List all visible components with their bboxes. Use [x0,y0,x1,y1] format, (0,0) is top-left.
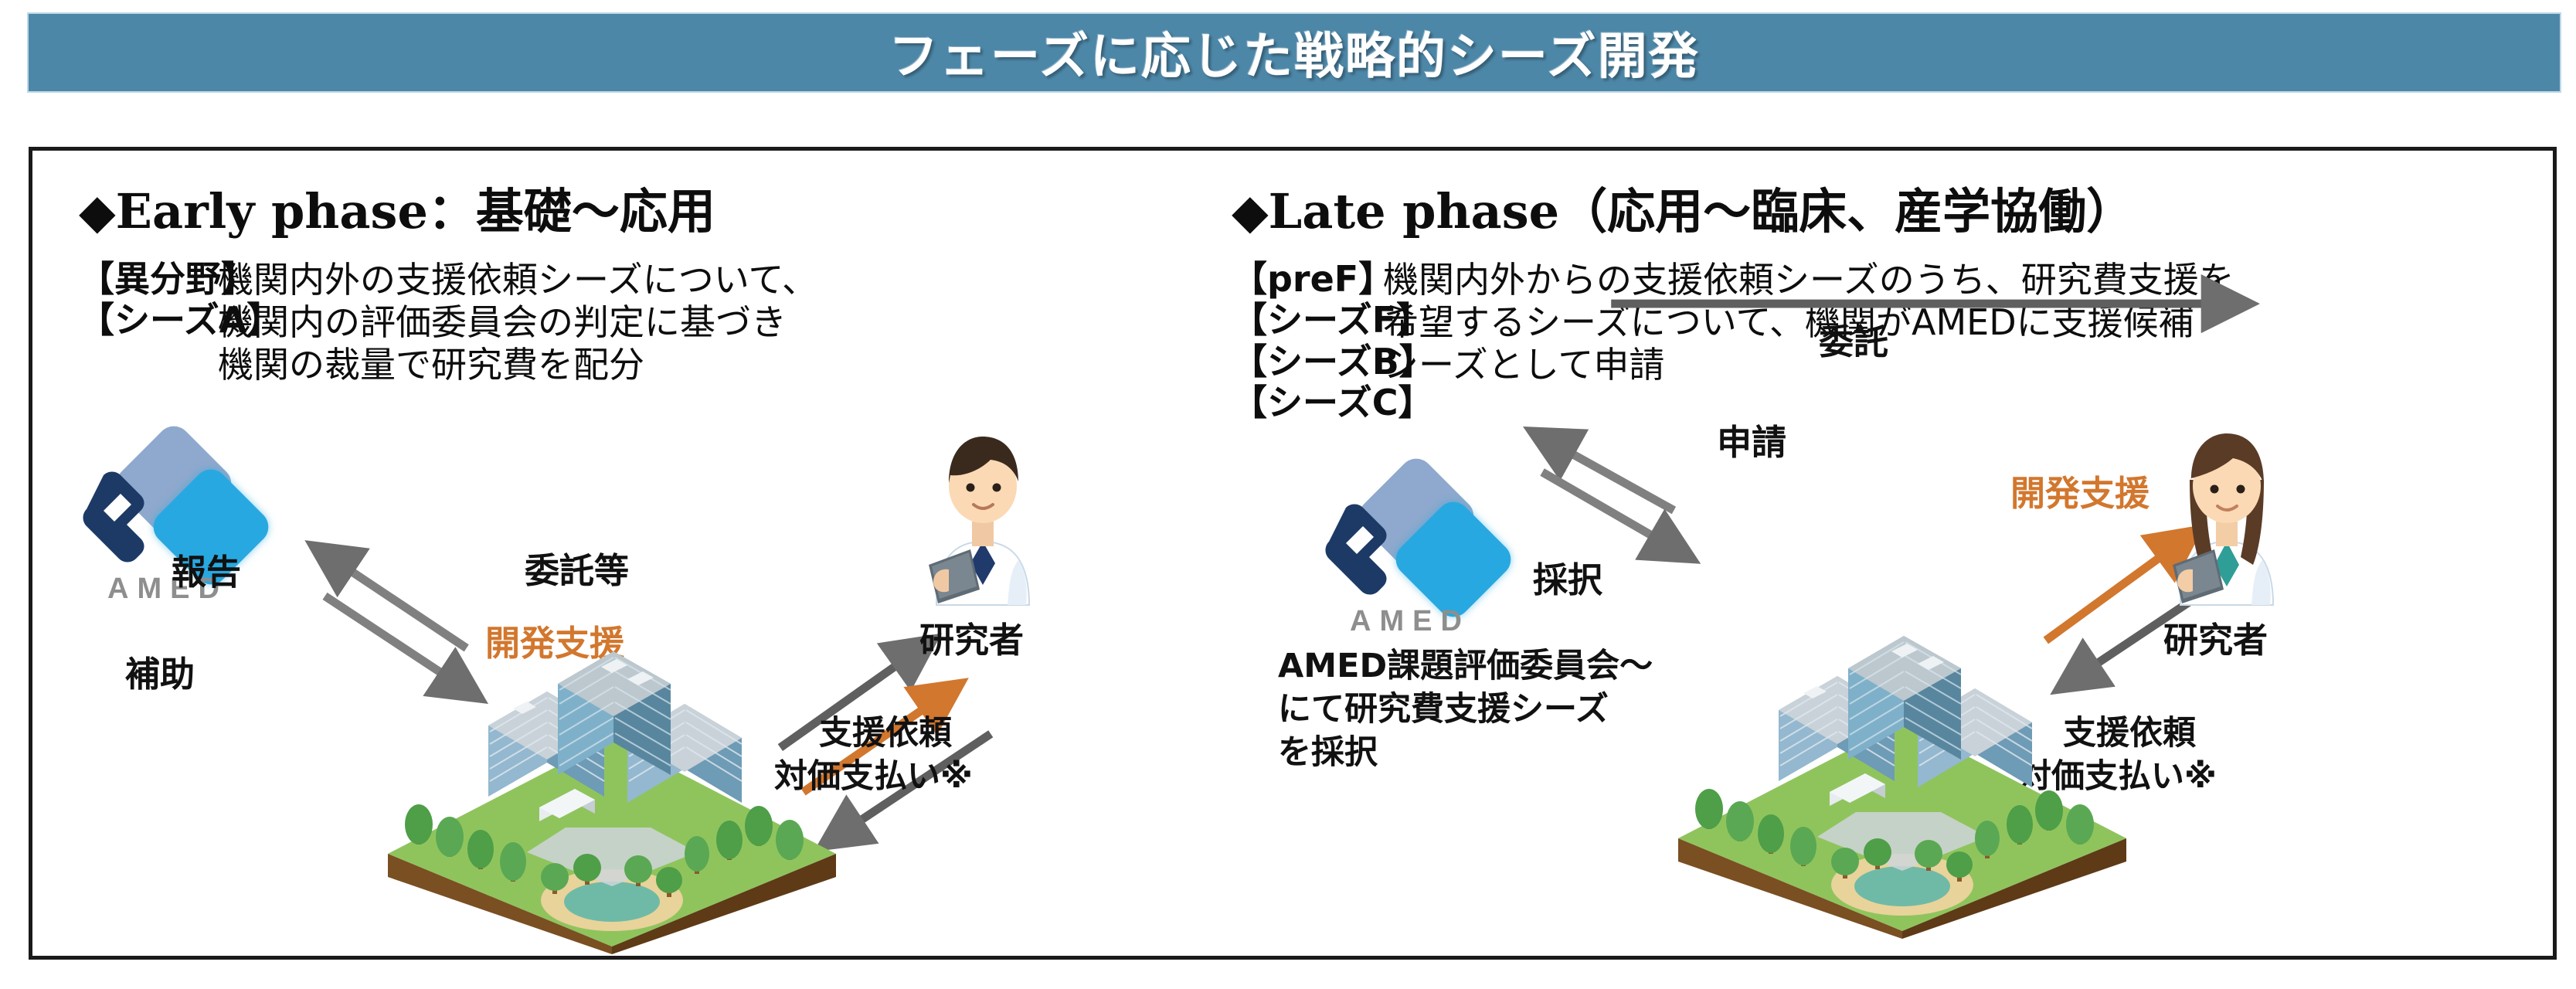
researcher-female-icon [2149,406,2304,607]
label-commission: 委託 [1819,322,1888,362]
arrow-report-icon [318,549,467,648]
description-line: 希望するシーズについて、機関がAMEDに支援候補 [1383,301,2234,344]
late-phase-heading: ◆Late phase（応用〜臨床、産学協働） [1232,172,2134,242]
committee-note-line: を採択 [1278,732,1653,775]
slide-title-bar: フェーズに応じた戦略的シーズ開発 [29,14,2560,91]
arrow-adopt-icon [1542,472,1687,556]
content-frame: ◆Early phase：基礎〜応用 【異分野】 【シーズA】 機関内外の支援依… [29,147,2557,960]
researcher-male-icon [906,406,1060,607]
label-commission: 委託等 [525,551,629,590]
description-line: シーズとして申請 [1383,344,2234,386]
label-researcher: 研究者 [2163,620,2268,660]
panel-late-phase: ◆Late phase（応用〜臨床、産学協働） 【preF】 【シーズF】 【シ… [1184,151,2557,956]
label-adopt: 採択 [1533,560,1602,600]
amed-wordmark: AMED [1321,605,1499,638]
amed-e-mark-icon [1323,503,1415,596]
description-line: 機関の裁量で研究費を配分 [218,344,817,386]
description-line: 機関内外からの支援依頼シーズのうち、研究費支援を [1383,259,2234,301]
early-phase-heading: ◆Early phase：基礎〜応用 [79,172,715,242]
early-phase-description: 機関内外の支援依頼シーズについて、 機関内の評価委員会の判定に基づき 機関の裁量… [218,259,817,387]
panel-early-phase: ◆Early phase：基礎〜応用 【異分野】 【シーズA】 機関内外の支援依… [32,151,1184,956]
amed-logo-icon: AMED [1321,469,1499,647]
isometric-campus-icon [372,645,851,954]
label-researcher: 研究者 [919,620,1024,660]
description-line: 機関内の評価委員会の判定に基づき [218,301,817,344]
committee-note: AMED課題評価委員会〜 にて研究費支援シーズ を採択 [1278,645,1653,775]
amed-e-mark-icon [80,471,173,563]
label-report: 報告 [172,552,241,592]
committee-note-line: AMED課題評価委員会〜 [1278,645,1653,688]
committee-note-line: にて研究費支援シーズ [1278,688,1653,732]
isometric-campus-icon [1663,630,2142,939]
label-apply: 申請 [1717,423,1786,462]
description-line: 機関内外の支援依頼シーズについて、 [218,259,817,301]
bracket-label: 【シーズC】 [1232,382,1435,423]
label-subsidy: 補助 [125,654,195,694]
arrow-apply-icon [1536,433,1674,510]
page-title: フェーズに応じた戦略的シーズ開発 [889,17,1700,88]
late-phase-description: 機関内外からの支援依頼シーズのうち、研究費支援を 希望するシーズについて、機関が… [1383,259,2234,387]
label-dev-support: 開発支援 [2010,474,2149,513]
